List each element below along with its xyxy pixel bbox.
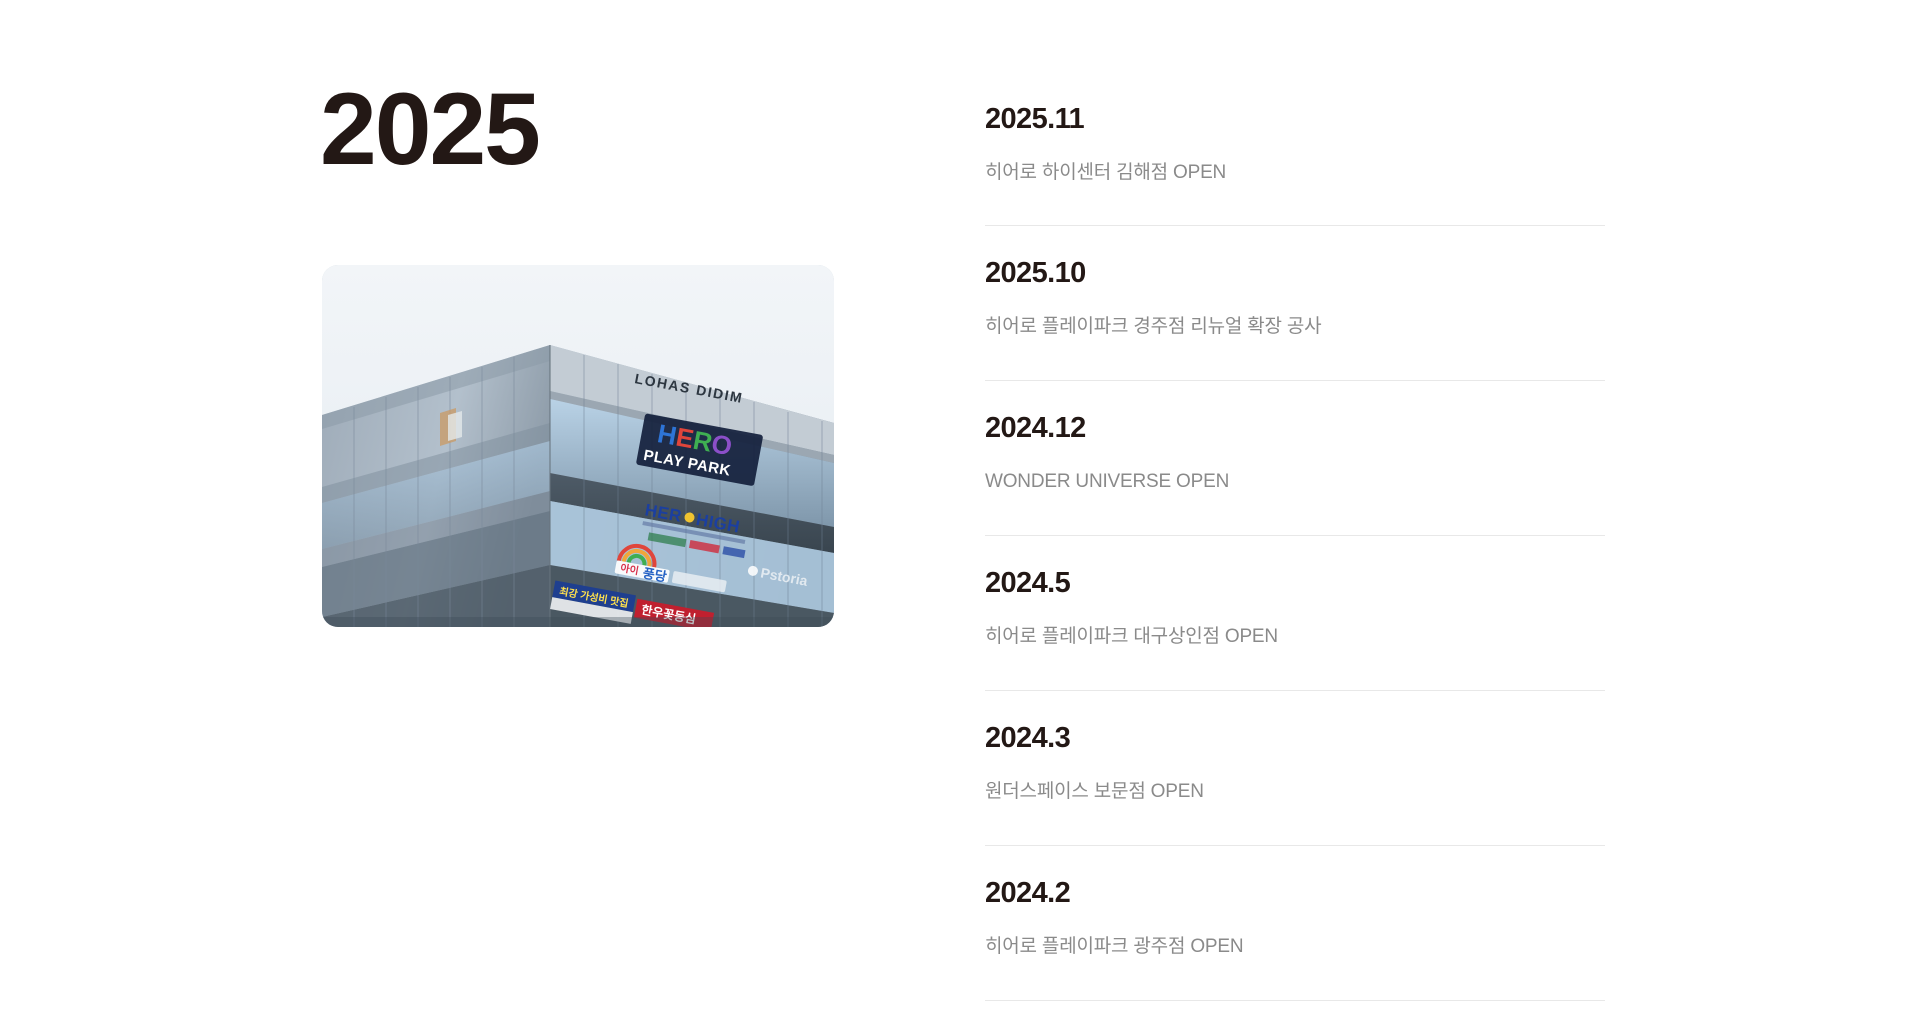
timeline-entry-date: 2024.3 — [985, 724, 1070, 753]
timeline-entry[interactable]: 2024.12 WONDER UNIVERSE OPEN — [985, 381, 1605, 536]
timeline-entry-date: 2025.11 — [985, 105, 1084, 134]
history-timeline-list: 2025.11 히어로 하이센터 김해점 OPEN 2025.10 히어로 플레… — [985, 0, 1605, 1001]
history-timeline-page: 2025 — [0, 0, 1920, 1030]
timeline-entry-description: WONDER UNIVERSE OPEN — [985, 472, 1229, 491]
timeline-entry-description: 원더스페이스 보문점 OPEN — [985, 782, 1204, 801]
timeline-entry-description: 히어로 플레이파크 대구상인점 OPEN — [985, 627, 1278, 646]
timeline-entry[interactable]: 2025.10 히어로 플레이파크 경주점 리뉴얼 확장 공사 — [985, 226, 1605, 381]
timeline-entry-date: 2024.2 — [985, 879, 1070, 908]
timeline-entry[interactable]: 2024.2 히어로 플레이파크 광주점 OPEN — [985, 846, 1605, 1001]
timeline-entry-date: 2024.5 — [985, 569, 1070, 598]
timeline-entry-description: 히어로 플레이파크 경주점 리뉴얼 확장 공사 — [985, 317, 1321, 336]
timeline-entry-description: 히어로 플레이파크 광주점 OPEN — [985, 937, 1243, 956]
timeline-entry[interactable]: 2024.5 히어로 플레이파크 대구상인점 OPEN — [985, 536, 1605, 691]
page-title-year: 2025 — [320, 78, 539, 180]
timeline-entry[interactable]: 2024.3 원더스페이스 보문점 OPEN — [985, 691, 1605, 846]
timeline-entry-date: 2024.12 — [985, 414, 1086, 443]
timeline-entry-description: 히어로 하이센터 김해점 OPEN — [985, 163, 1226, 182]
building-photo: LOHAS DIDIM HERO PLAY PARK HER HIGH — [322, 265, 834, 627]
timeline-entry[interactable]: 2025.11 히어로 하이센터 김해점 OPEN — [985, 0, 1605, 226]
year-column: 2025 — [320, 0, 880, 1030]
building-photo-illustration: LOHAS DIDIM HERO PLAY PARK HER HIGH — [322, 265, 834, 627]
timeline-entry-date: 2025.10 — [985, 259, 1086, 288]
